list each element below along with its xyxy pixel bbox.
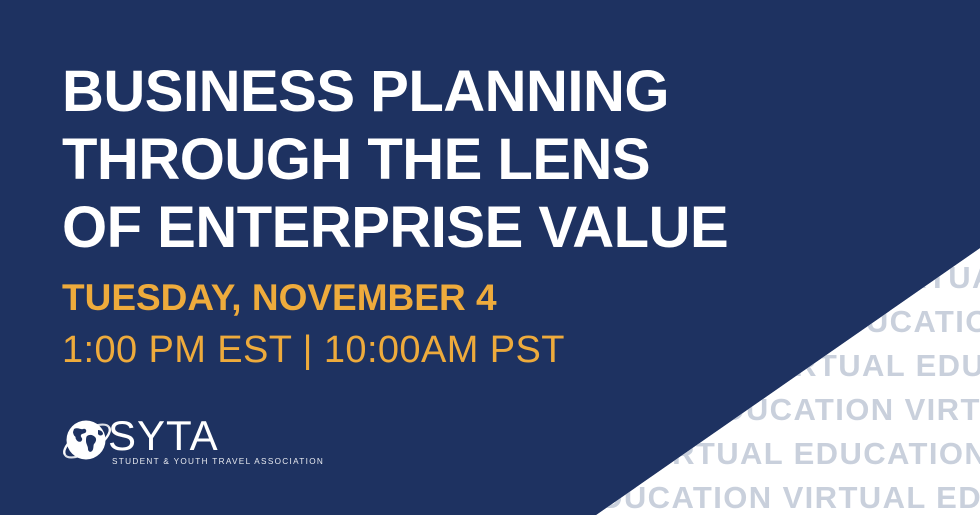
headline-line-1: BUSINESS PLANNING — [62, 58, 882, 126]
syta-wordmark: SYTA — [108, 415, 219, 457]
banner-content: BUSINESS PLANNING THROUGH THE LENS OF EN… — [62, 58, 882, 374]
syta-tagline: STUDENT & YOUTH TRAVEL ASSOCIATION — [112, 457, 324, 466]
event-date: TUESDAY, NOVEMBER 4 — [62, 274, 882, 322]
event-time: 1:00 PM EST | 10:00AM PST — [62, 326, 882, 374]
syta-logo: SYTA STUDENT & YOUTH TRAVEL ASSOCIATION — [60, 410, 290, 472]
headline-line-2: THROUGH THE LENS — [62, 126, 882, 194]
webinar-promo-banner: VIRTUAL EDUCATION VIRTUAL EDUCATIONEDUCA… — [0, 0, 980, 515]
watermark-row: EDUCATION VIRTUAL EDUCATION VIRTUAL — [578, 482, 980, 513]
headline-line-3: OF ENTERPRISE VALUE — [62, 194, 882, 262]
